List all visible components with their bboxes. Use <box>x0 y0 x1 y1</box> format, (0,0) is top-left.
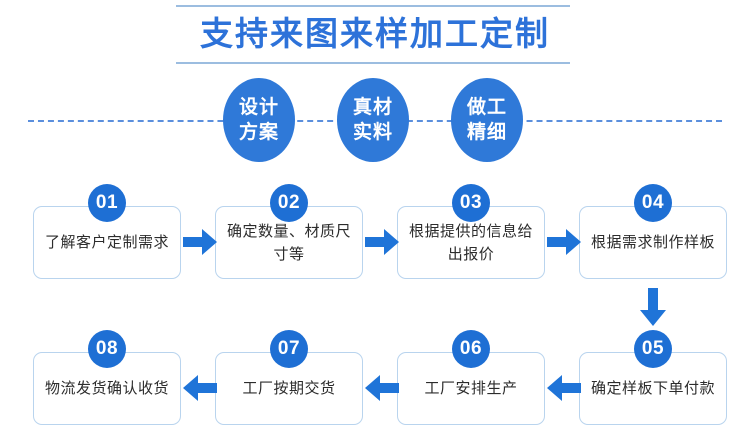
feature-ellipse-1-line1: 设计 <box>239 95 279 120</box>
flow-step-07-label: 工厂按期交货 <box>225 377 353 400</box>
title-rule-bottom <box>176 62 570 64</box>
flow-step-03-number: 03 <box>452 184 490 222</box>
arrow-right-icon <box>547 229 581 255</box>
arrow-right-icon <box>183 229 217 255</box>
flow-step-08-number: 08 <box>88 330 126 368</box>
arrow-right-icon <box>365 229 399 255</box>
arrow-down-icon <box>640 288 666 326</box>
flow-step-05-label: 确定样板下单付款 <box>589 377 717 400</box>
flow-step-05-number: 05 <box>634 330 672 368</box>
feature-ellipse-3: 做工 精细 <box>451 78 523 162</box>
feature-ellipse-3-line2: 精细 <box>467 120 507 145</box>
arrow-left-icon <box>365 375 399 401</box>
flow-step-07-number: 07 <box>270 330 308 368</box>
feature-ellipse-1-line2: 方案 <box>239 120 279 145</box>
feature-ellipse-2-line2: 实料 <box>353 120 393 145</box>
flow-step-06-label: 工厂安排生产 <box>407 377 535 400</box>
page-title: 支持来图来样加工定制 <box>0 10 750 58</box>
arrow-left-icon <box>183 375 217 401</box>
flow-step-04-label: 根据需求制作样板 <box>589 231 717 254</box>
flow-step-01-label: 了解客户定制需求 <box>43 231 171 254</box>
title-rule-top <box>176 5 570 7</box>
arrow-left-icon <box>547 375 581 401</box>
flow-step-02-number: 02 <box>270 184 308 222</box>
feature-ellipse-2-line1: 真材 <box>353 95 393 120</box>
feature-ellipse-2: 真材 实料 <box>337 78 409 162</box>
flow-step-01-number: 01 <box>88 184 126 222</box>
flow-step-08-label: 物流发货确认收货 <box>43 377 171 400</box>
flow-step-02-label: 确定数量、材质尺寸等 <box>225 220 353 266</box>
flow-step-03-label: 根据提供的信息给出报价 <box>407 220 535 266</box>
flow-step-06-number: 06 <box>452 330 490 368</box>
flow-step-04-number: 04 <box>634 184 672 222</box>
infographic-root: 支持来图来样加工定制 设计 方案 真材 实料 做工 精细 了解客户定制需求 01… <box>0 0 750 433</box>
feature-ellipse-1: 设计 方案 <box>223 78 295 162</box>
feature-ellipse-3-line1: 做工 <box>467 95 507 120</box>
